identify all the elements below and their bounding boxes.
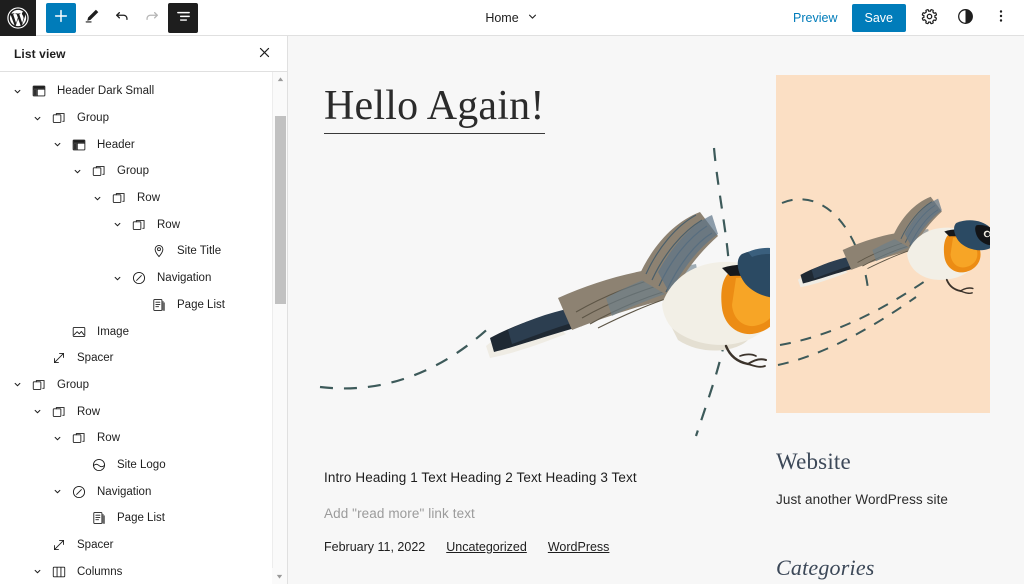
canvas-right-column: Website Just another WordPress site Cate…	[776, 75, 990, 581]
undo-arrow-icon	[113, 7, 131, 28]
pencil-edit-icon	[83, 7, 101, 28]
block-tree-label: Navigation	[157, 272, 211, 284]
wordpress-logo-button[interactable]	[0, 0, 36, 36]
editor-body: List view Header Dark Small Gr	[0, 36, 1024, 584]
document-title-button[interactable]: Home	[479, 6, 544, 30]
expand-chevron-icon[interactable]	[86, 193, 108, 204]
block-tree-row[interactable]: Header	[0, 131, 287, 158]
group-icon	[48, 110, 70, 126]
site-tagline[interactable]: Just another WordPress site	[776, 492, 990, 507]
block-tree[interactable]: Header Dark Small Group Header Group Row…	[0, 72, 287, 584]
flying-bird-illustration-peach	[776, 75, 990, 413]
toolbar-right-group: Preview Save	[789, 4, 1024, 32]
contrast-half-circle-icon	[956, 7, 975, 29]
block-tree-label: Header	[97, 139, 135, 151]
chevron-down-icon	[526, 10, 539, 26]
block-tree-row[interactable]: Navigation	[0, 478, 287, 505]
block-tree-label: Row	[77, 406, 100, 418]
list-view-scrollbar[interactable]	[272, 72, 287, 584]
block-tree-label: Site Title	[177, 245, 221, 257]
template-part-icon	[68, 137, 90, 153]
group-icon	[28, 377, 50, 393]
block-tree-label: Header Dark Small	[57, 85, 154, 97]
block-tree-row[interactable]: Group	[0, 158, 287, 185]
bird-figure	[486, 212, 770, 367]
categories-heading[interactable]: Categories	[776, 555, 990, 581]
block-tree-row[interactable]: Navigation	[0, 265, 287, 292]
block-tree-label: Group	[77, 112, 109, 124]
block-tree-row[interactable]: Group	[0, 372, 287, 399]
navigation-compass-icon	[68, 484, 90, 500]
row-icon	[108, 190, 130, 206]
expand-chevron-icon[interactable]	[66, 166, 88, 177]
image-icon	[68, 324, 90, 340]
row-icon	[68, 430, 90, 446]
block-tree-label: Row	[157, 219, 180, 231]
scroll-down-arrow-icon[interactable]	[272, 568, 287, 584]
block-tree-row[interactable]: Site Title	[0, 238, 287, 265]
featured-image-block[interactable]	[318, 144, 770, 444]
expand-chevron-icon[interactable]	[46, 486, 68, 497]
block-tree-label: Site Logo	[117, 459, 166, 471]
expand-chevron-icon[interactable]	[26, 566, 48, 577]
save-button[interactable]: Save	[852, 4, 907, 32]
list-view-header: List view	[0, 36, 287, 72]
scroll-up-arrow-icon[interactable]	[273, 72, 288, 86]
editor-top-toolbar: Home Preview Save	[0, 0, 1024, 36]
list-view-toggle-button[interactable]	[168, 3, 198, 33]
post-date[interactable]: February 11, 2022	[324, 540, 425, 554]
wordpress-logo-icon	[7, 7, 29, 29]
more-options-button[interactable]	[988, 5, 1014, 31]
block-tree-row[interactable]: Group	[0, 105, 287, 132]
expand-chevron-icon[interactable]	[106, 273, 128, 284]
block-tree-label: Columns	[77, 566, 122, 578]
site-logo-icon	[88, 457, 110, 473]
block-tree-label: Row	[137, 192, 160, 204]
styles-button[interactable]	[952, 5, 978, 31]
redo-arrow-icon	[143, 7, 161, 28]
group-icon	[88, 163, 110, 179]
block-tree-label: Group	[57, 379, 89, 391]
undo-button[interactable]	[108, 4, 136, 32]
block-tree-row[interactable]: Row	[0, 185, 287, 212]
navigation-compass-icon	[128, 270, 150, 286]
template-part-icon	[28, 83, 50, 99]
page-list-icon	[148, 297, 170, 313]
expand-chevron-icon[interactable]	[106, 219, 128, 230]
list-view-panel: List view Header Dark Small Gr	[0, 36, 288, 584]
flying-bird-illustration	[318, 144, 770, 444]
close-x-icon	[257, 45, 272, 63]
wordpress-site-editor: Home Preview Save	[0, 0, 1024, 584]
block-tree-label: Row	[97, 432, 120, 444]
edit-tool-button[interactable]	[78, 4, 106, 32]
sidebar-featured-image[interactable]	[776, 75, 990, 413]
expand-chevron-icon[interactable]	[6, 86, 28, 97]
site-title[interactable]: Website	[776, 449, 990, 475]
post-meta-row: February 11, 2022 Uncategorized WordPres…	[324, 540, 609, 554]
plus-icon	[53, 8, 69, 27]
block-tree-row[interactable]: Header Dark Small	[0, 78, 287, 105]
add-block-button[interactable]	[46, 3, 76, 33]
editor-canvas[interactable]: Hello Again!	[288, 36, 1024, 584]
block-tree-row[interactable]: Spacer	[0, 345, 287, 372]
block-tree-row[interactable]: Row	[0, 398, 287, 425]
dashed-flight-path-left	[320, 324, 493, 388]
post-excerpt-heading[interactable]: Intro Heading 1 Text Heading 2 Text Head…	[324, 470, 637, 485]
settings-button[interactable]	[916, 5, 942, 31]
more-vertical-ellipsis-icon	[992, 7, 1010, 28]
block-tree-label: Navigation	[97, 486, 151, 498]
toolbar-left-group	[36, 3, 198, 33]
expand-chevron-icon[interactable]	[46, 433, 68, 444]
row-icon	[48, 404, 70, 420]
block-tree-row[interactable]: Row	[0, 211, 287, 238]
preview-button[interactable]: Preview	[789, 6, 841, 30]
block-tree-label: Page List	[177, 299, 225, 311]
page-list-icon	[88, 510, 110, 526]
scrollbar-thumb[interactable]	[275, 116, 286, 304]
block-tree-row[interactable]: Image	[0, 318, 287, 345]
spacer-arrows-icon	[48, 350, 70, 366]
block-tree-row[interactable]: Site Logo	[0, 452, 287, 479]
document-title-label: Home	[485, 11, 518, 25]
block-tree-label: Group	[117, 165, 149, 177]
columns-icon	[48, 564, 70, 580]
list-view-title: List view	[14, 47, 66, 61]
post-title[interactable]: Hello Again!	[324, 84, 545, 134]
block-tree-row[interactable]: Page List	[0, 505, 287, 532]
row-icon	[128, 217, 150, 233]
post-category-link[interactable]: Uncategorized	[446, 540, 527, 554]
site-title-pin-icon	[148, 243, 170, 259]
expand-chevron-icon[interactable]	[26, 113, 48, 124]
block-tree-row[interactable]: Spacer	[0, 532, 287, 559]
expand-chevron-icon[interactable]	[6, 379, 28, 390]
block-tree-row[interactable]: Row	[0, 425, 287, 452]
block-tree-label: Page List	[117, 512, 165, 524]
redo-button[interactable]	[138, 4, 166, 32]
expand-chevron-icon[interactable]	[46, 139, 68, 150]
list-view-icon	[175, 8, 192, 28]
block-tree-label: Spacer	[77, 539, 113, 551]
spacer-arrows-icon	[48, 537, 70, 553]
block-tree-label: Spacer	[77, 352, 113, 364]
gear-icon	[920, 7, 939, 29]
bird-figure-small	[798, 197, 990, 294]
block-tree-row[interactable]: Columns	[0, 558, 287, 584]
block-tree-label: Image	[97, 326, 129, 338]
post-tag-link[interactable]: WordPress	[548, 540, 610, 554]
block-tree-row[interactable]: Page List	[0, 292, 287, 319]
dashed-arc-lower2	[778, 297, 916, 365]
read-more-placeholder[interactable]: Add "read more" link text	[324, 506, 475, 521]
expand-chevron-icon[interactable]	[26, 406, 48, 417]
close-list-view-button[interactable]	[253, 43, 275, 65]
